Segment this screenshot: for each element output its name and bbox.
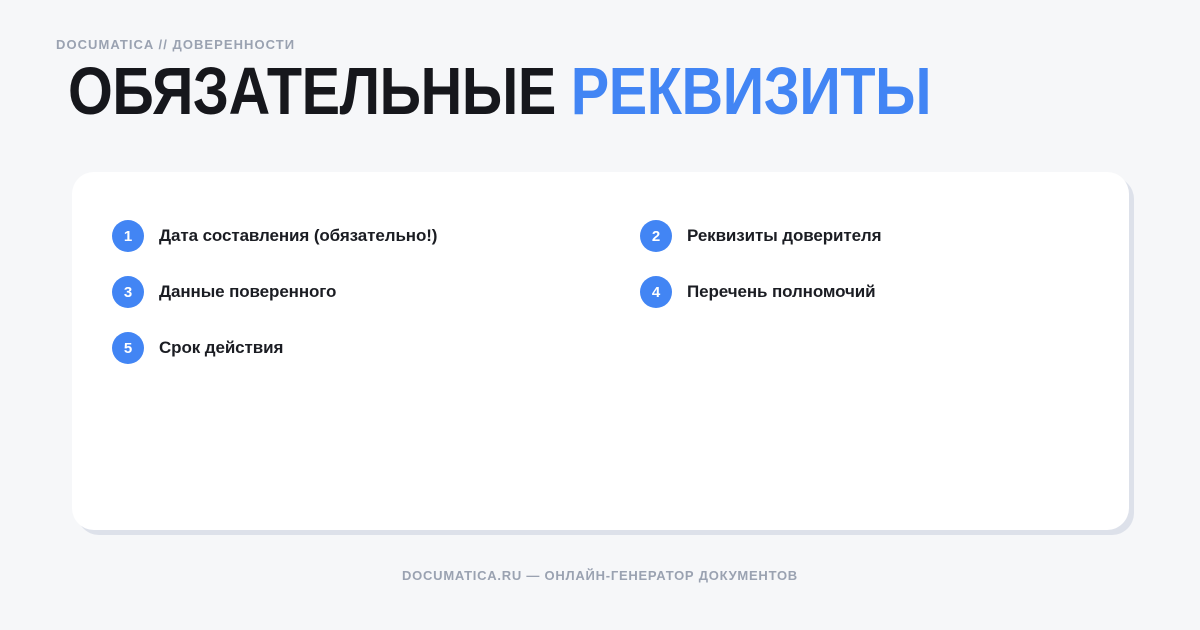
list-item: 4 Перечень полномочий: [640, 276, 1090, 308]
item-number-badge: 2: [640, 220, 672, 252]
item-label: Данные поверенного: [159, 282, 336, 302]
list-item: 5 Срок действия: [112, 332, 640, 364]
list-item: 2 Реквизиты доверителя: [640, 220, 1090, 252]
item-number-badge: 3: [112, 276, 144, 308]
page-title-accent: РЕКВИЗИТЫ: [571, 54, 931, 129]
footer-attribution: DOCUMATICA.RU — ОНЛАЙН-ГЕНЕРАТОР ДОКУМЕН…: [0, 568, 1200, 583]
item-label: Срок действия: [159, 338, 283, 358]
requisites-card: 1 Дата составления (обязательно!) 2 Рекв…: [72, 172, 1129, 530]
item-number-badge: 5: [112, 332, 144, 364]
item-number-badge: 4: [640, 276, 672, 308]
item-label: Дата составления (обязательно!): [159, 226, 437, 246]
requisites-list: 1 Дата составления (обязательно!) 2 Рекв…: [112, 208, 1090, 376]
list-item: 1 Дата составления (обязательно!): [112, 220, 640, 252]
slide-canvas: DOCUMATICA // ДОВЕРЕННОСТИ ОБЯЗАТЕЛЬНЫЕР…: [0, 0, 1200, 630]
item-label: Реквизиты доверителя: [687, 226, 881, 246]
item-number-badge: 1: [112, 220, 144, 252]
item-label: Перечень полномочий: [687, 282, 876, 302]
page-title-primary: ОБЯЗАТЕЛЬНЫЕ: [68, 54, 556, 129]
page-title: ОБЯЗАТЕЛЬНЫЕРЕКВИЗИТЫ: [68, 54, 931, 130]
eyebrow-breadcrumb: DOCUMATICA // ДОВЕРЕННОСТИ: [56, 37, 295, 52]
list-item: 3 Данные поверенного: [112, 276, 640, 308]
